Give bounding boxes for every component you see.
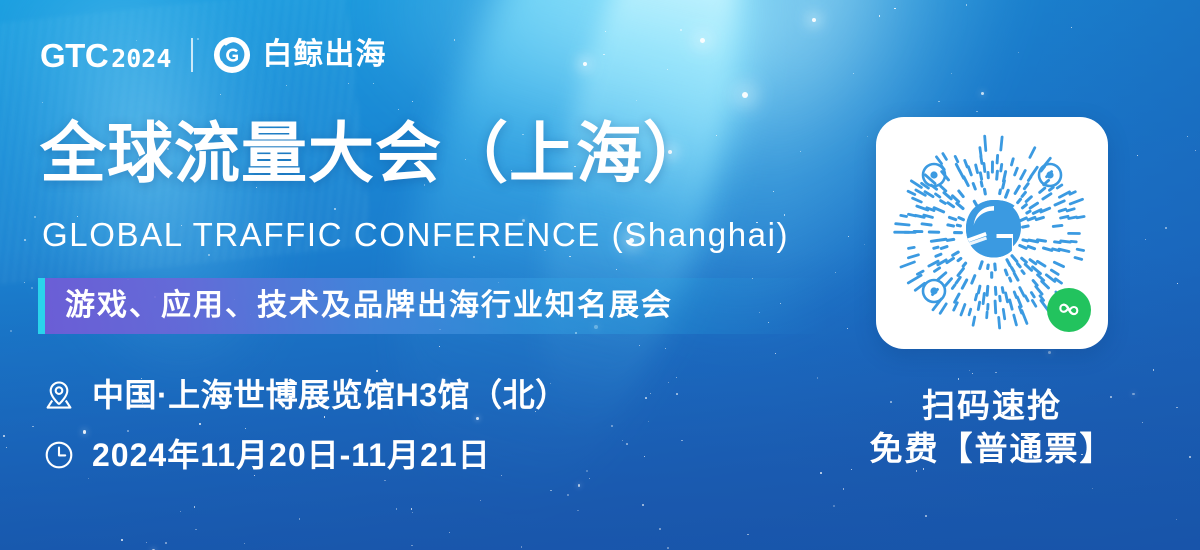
venue-text: 中国·上海世博展览馆H3馆（北） <box>92 379 568 411</box>
logo-divider <box>191 38 193 72</box>
qr-code-inner <box>876 117 1108 349</box>
wechat-miniprogram-icon <box>1054 295 1084 325</box>
event-banner: GTC 2024 白鲸出海 全球流量大会（上海） GLOBAL TRAFFIC … <box>0 0 1200 550</box>
date-line: 2024年11月20日-11月21日 <box>42 438 491 472</box>
tagline-text: 游戏、应用、技术及品牌出海行业知名展会 <box>65 291 673 321</box>
page-subtitle: GLOBAL TRAFFIC CONFERENCE (Shanghai) <box>42 218 789 251</box>
brand-logo: 白鲸出海 <box>213 36 386 74</box>
location-pin-icon <box>42 378 76 412</box>
date-text: 2024年11月20日-11月21日 <box>92 439 491 471</box>
wechat-miniprogram-badge <box>1047 288 1091 332</box>
qr-center-g-logo-icon <box>953 194 1031 272</box>
tagline-accent-bar <box>38 278 45 334</box>
qr-caption-line-2: 免费【普通票】 <box>846 428 1138 471</box>
qr-caption: 扫码速抢 免费【普通票】 <box>846 385 1138 471</box>
qr-caption-line-1: 扫码速抢 <box>846 385 1138 428</box>
qr-code-card[interactable] <box>876 117 1108 349</box>
clock-icon <box>42 438 76 472</box>
venue-line: 中国·上海世博展览馆H3馆（北） <box>42 378 568 412</box>
gtc-year: 2024 <box>111 46 171 71</box>
whale-g-logo-icon <box>213 36 251 74</box>
tagline-banner: 游戏、应用、技术及品牌出海行业知名展会 <box>38 278 828 334</box>
gtc-logo: GTC 2024 <box>40 39 171 72</box>
page-title: 全球流量大会（上海） <box>40 118 710 189</box>
header-logo-row: GTC 2024 白鲸出海 <box>40 33 386 77</box>
brand-name: 白鲸出海 <box>262 40 386 70</box>
gtc-wordmark: GTC <box>40 39 108 72</box>
